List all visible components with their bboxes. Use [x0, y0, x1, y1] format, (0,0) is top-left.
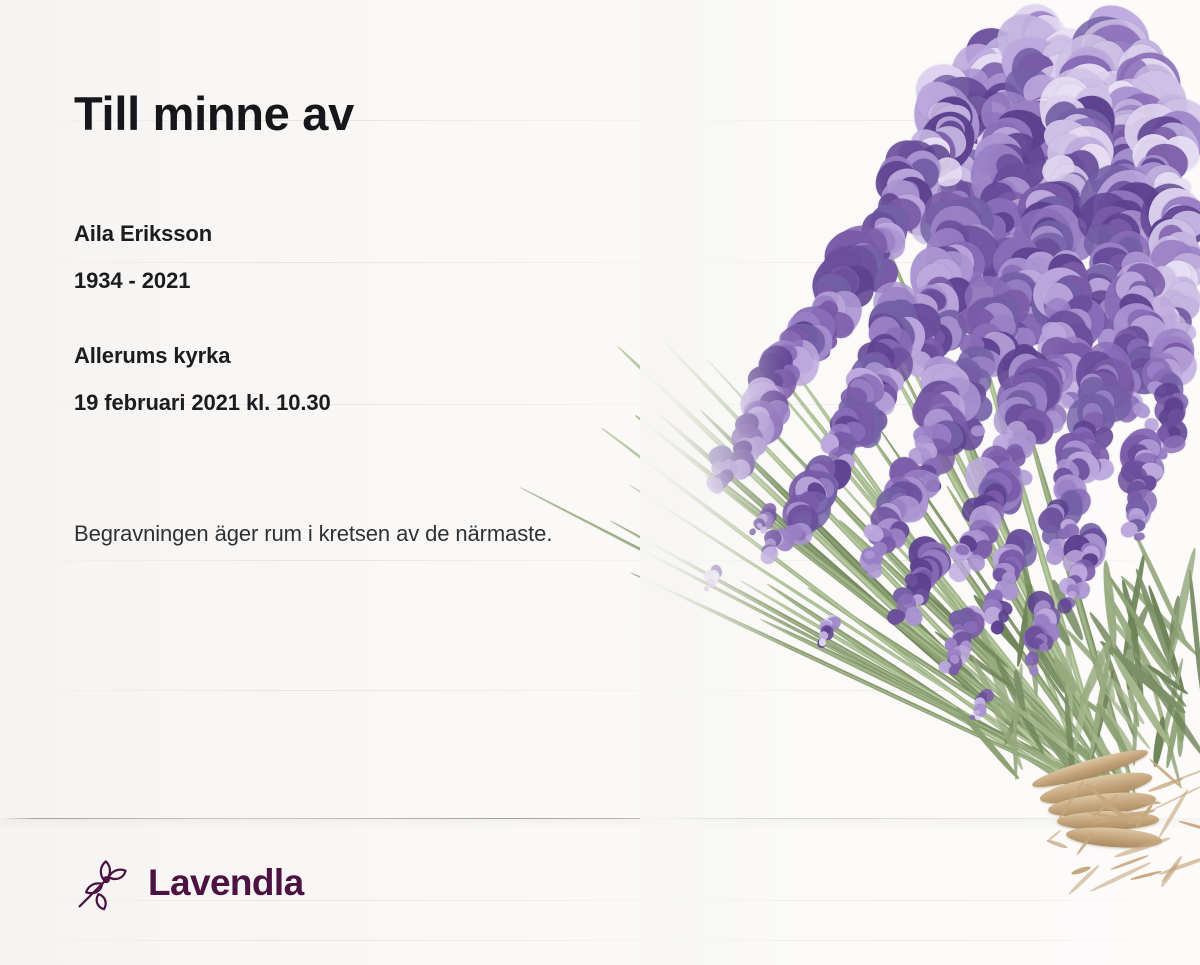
deceased-years: 1934 - 2021 [74, 270, 331, 292]
brand-logo: Lavendla [74, 852, 304, 912]
lavender-bouquet-photo [640, 0, 1200, 965]
lavender-sprig-icon [74, 852, 134, 912]
memorial-text-block: Till minne av Aila Eriksson 1934 - 2021 … [74, 0, 694, 965]
page-title: Till minne av [74, 88, 354, 140]
ceremony-notice: Begravningen äger rum i kretsen av de nä… [74, 518, 654, 551]
deceased-details: Aila Eriksson 1934 - 2021 Allerums kyrka… [74, 223, 331, 439]
deceased-name: Aila Eriksson [74, 223, 331, 245]
brand-name: Lavendla [148, 864, 304, 901]
ceremony-datetime: 19 februari 2021 kl. 10.30 [74, 392, 331, 414]
ceremony-venue: Allerums kyrka [74, 345, 331, 367]
memorial-card: Till minne av Aila Eriksson 1934 - 2021 … [0, 0, 1200, 965]
